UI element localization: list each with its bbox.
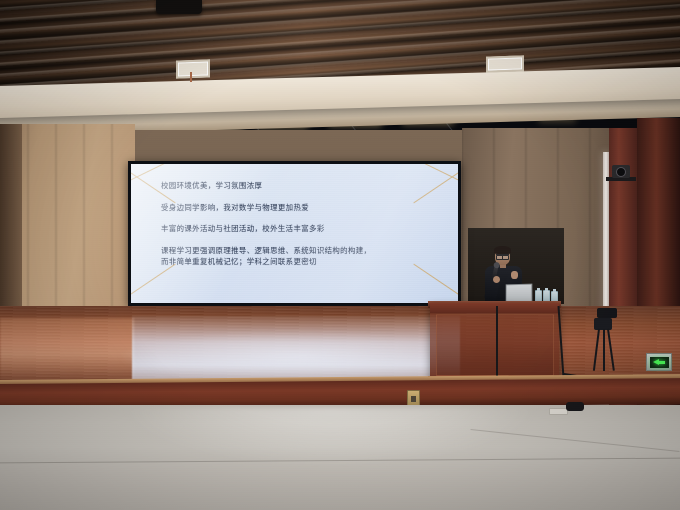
air-vent <box>486 55 524 72</box>
vent-cable <box>190 72 192 82</box>
exit-arrow-tail <box>659 361 665 364</box>
slide-corner-accent <box>413 264 458 302</box>
cable-coil <box>566 402 584 411</box>
projection-screen-frame: 校园环境优美，学习氛围浓厚 受身边同学影响，我对数学与物理更加热爱 丰富的课外活… <box>128 161 461 306</box>
tripod-leg <box>603 329 605 371</box>
slide-line-1: 校园环境优美，学习氛围浓厚 <box>161 181 440 192</box>
presenter-hair <box>494 246 511 254</box>
lecture-hall-photo: 校园环境优美，学习氛围浓厚 受身边同学影响，我对数学与物理更加热爱 丰富的课外活… <box>0 0 680 510</box>
air-vent <box>176 59 210 78</box>
slide-line-2: 受身边同学影响，我对数学与物理更加热爱 <box>161 203 440 214</box>
power-strip <box>549 408 568 415</box>
tripod-camera <box>597 308 617 318</box>
exit-sign-face <box>650 357 669 368</box>
slide-corner-accent <box>131 264 176 302</box>
slide-paragraph: 课程学习更强调原理推导、逻辑思维、系统知识结构的构建， 而非简单重复机械记忆；学… <box>161 246 440 267</box>
slide-paragraph-line-1: 课程学习更强调原理推导、逻辑思维、系统知识结构的构建， <box>161 246 440 257</box>
camera-lens-icon <box>616 167 626 177</box>
presenter-left-hand <box>493 276 500 283</box>
projection-screen: 校园环境优美，学习氛围浓厚 受身边同学影响，我对数学与物理更加热爱 丰富的课外活… <box>131 164 458 303</box>
ceiling-speaker <box>156 0 202 14</box>
exit-sign <box>646 353 672 371</box>
slide-paragraph-line-2: 而非简单重复机械记忆；学科之间联系更密切 <box>161 257 440 268</box>
slide-corner-accent <box>416 164 458 182</box>
presenter-right-hand <box>511 271 518 279</box>
slide-line-3: 丰富的课外活动与社团活动，校外生活丰富多彩 <box>161 224 440 235</box>
podium-front-panel <box>436 314 554 376</box>
slide-corner-accent <box>131 164 173 182</box>
podium-cable <box>496 306 498 386</box>
slide-content: 校园环境优美，学习氛围浓厚 受身边同学影响，我对数学与物理更加热爱 丰富的课外活… <box>161 181 440 268</box>
stage-warm-reflection <box>0 318 134 384</box>
screen-reflection-glow <box>120 330 475 382</box>
eyeglasses-icon <box>496 254 509 258</box>
